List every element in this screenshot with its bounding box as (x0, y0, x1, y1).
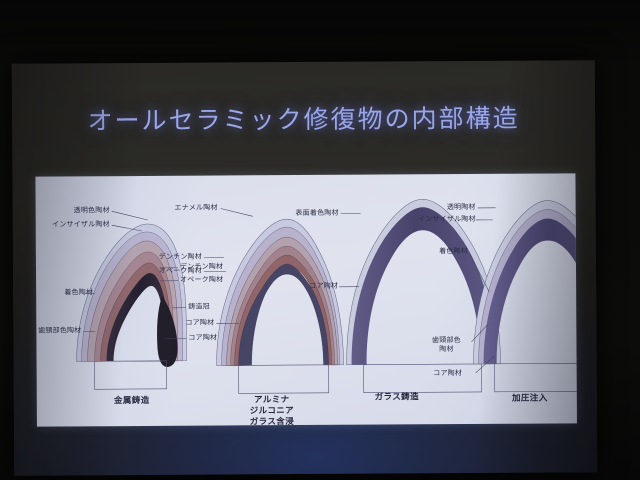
label-cervical-ceramic-4-line2: 陶材 (422, 345, 470, 354)
label-core-ceramic-3: コア陶材 (292, 282, 338, 291)
label-core-ceramic-1: コア陶材 (188, 334, 217, 343)
tooth-diagram-alumina-zirconia (204, 208, 344, 394)
label-incisal-ceramic-1: インサイザル陶材 (28, 220, 110, 230)
caption-alumina: アルミナ (227, 395, 317, 407)
label-cervical-ceramic-1: 歯頸部色陶材 (28, 326, 81, 335)
label-enamel-ceramic-2: エナメル陶材 (146, 204, 218, 213)
figure-panel: 透明色陶材 インサイザル陶材 着色陶材 歯頸部色陶材 デンチン陶材 オペーク陶材… (35, 173, 577, 426)
caption-glass-infiltrated: ガラス含浸 (227, 417, 317, 429)
caption-zirconia: ジルコニア (227, 406, 317, 418)
label-shade-ceramic-4: 着色陶材 (418, 247, 468, 256)
label-dentin-ceramic-2: デンチン陶材 (140, 253, 202, 262)
caption-metal-cast: 金属鋳造 (87, 396, 177, 408)
label-core-ceramic-4: コア陶材 (423, 369, 473, 378)
label-surface-stain-ceramic-3: 表面着色陶材 (274, 209, 339, 218)
caption-glass-cast: ガラス鋳造 (352, 392, 442, 404)
label-incisal-ceramic-4: インサイザル陶材 (394, 215, 476, 225)
projector-photo: オールセラミック修復物の内部構造 (0, 0, 640, 480)
label-core-ceramic-2: コア陶材 (162, 319, 214, 328)
tooth-diagram-heat-press (469, 200, 577, 392)
label-translucent-ceramic-4: 透明陶材 (424, 203, 476, 212)
tooth-diagram-metal-ceramic (76, 211, 187, 390)
projection-screen: オールセラミック修復物の内部構造 (12, 60, 598, 476)
label-cast-crown-1: 鋳造冠 (188, 303, 210, 312)
label-opaque-ceramic-2: オペーク陶材 (140, 267, 202, 276)
caption-heat-press: 加圧注入 (485, 393, 575, 405)
label-opaque-ceramic-1: オペーク陶材 (180, 275, 223, 284)
slide-title: オールセラミック修復物の内部構造 (12, 98, 595, 138)
label-shade-ceramic-1: 着色陶材 (38, 288, 93, 297)
label-translucent-ceramic-1: 透明色陶材 (38, 206, 110, 215)
label-cervical-ceramic-4-line1: 歯頸部色 (422, 336, 470, 345)
